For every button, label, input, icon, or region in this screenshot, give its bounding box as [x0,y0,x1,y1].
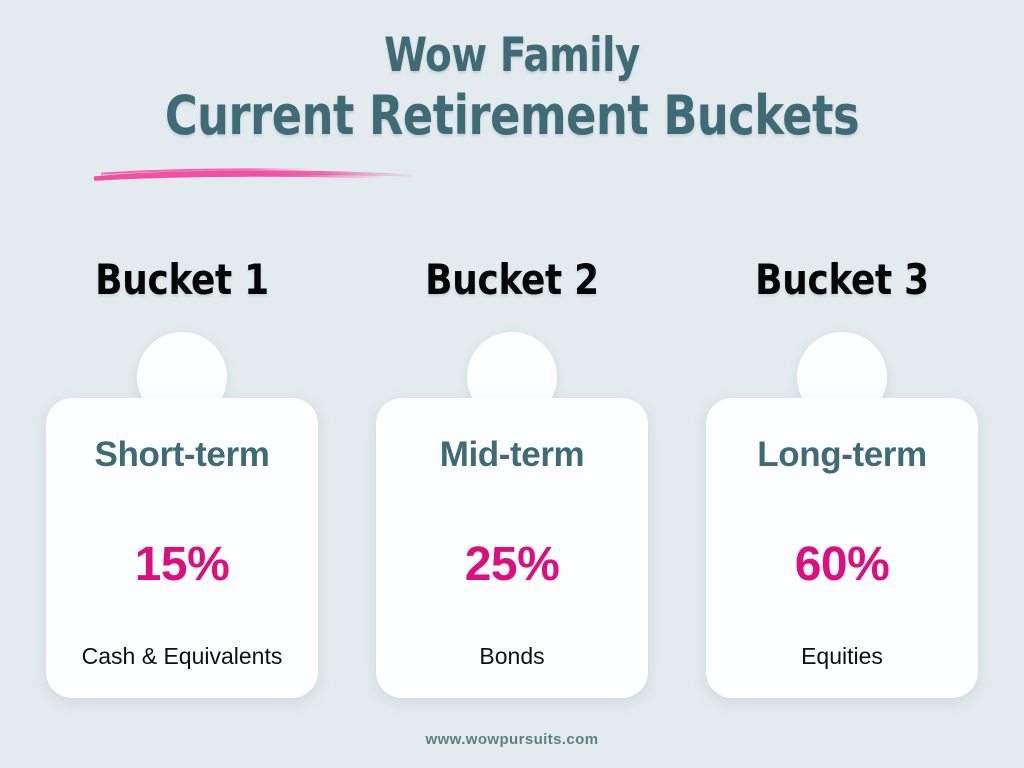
bucket-percent-1: 15% [46,538,318,592]
bucket-percent-3: 60% [706,538,978,592]
bucket-header-2: Bucket 2 [383,256,641,304]
bucket-card-group-1[interactable]: Short-term 15% Cash & Equivalents [46,330,318,700]
bucket-header-3: Bucket 3 [713,256,971,304]
bucket-term-3: Long-term [706,435,978,475]
bucket-caption-1: Cash & Equivalents [46,642,318,670]
footer: www.wowpursuits.com [0,731,1024,749]
bucket-card-group-3[interactable]: Long-term 60% Equities [706,330,978,700]
bucket-card-3[interactable]: Long-term 60% Equities [706,398,978,698]
title-line-1: Wow Family [41,28,983,84]
bucket-term-2: Mid-term [376,435,648,475]
bucket-caption-3: Equities [706,642,978,670]
title-line-2: Current Retirement Buckets [41,84,983,148]
bucket-card-group-2[interactable]: Mid-term 25% Bonds [376,330,648,700]
bucket-caption-2: Bonds [376,642,648,670]
bucket-header-1: Bucket 1 [53,256,311,304]
infographic-canvas: Wow Family Current Retirement Buckets Bu… [0,0,1024,768]
bucket-card-1[interactable]: Short-term 15% Cash & Equivalents [46,398,318,698]
bucket-term-1: Short-term [46,435,318,475]
bucket-percent-2: 25% [376,538,648,592]
title-block: Wow Family Current Retirement Buckets [0,28,1024,148]
bucket-card-2[interactable]: Mid-term 25% Bonds [376,398,648,698]
footer-website-url[interactable]: www.wowpursuits.com [426,731,599,748]
title-underline-brushstroke [92,163,414,185]
